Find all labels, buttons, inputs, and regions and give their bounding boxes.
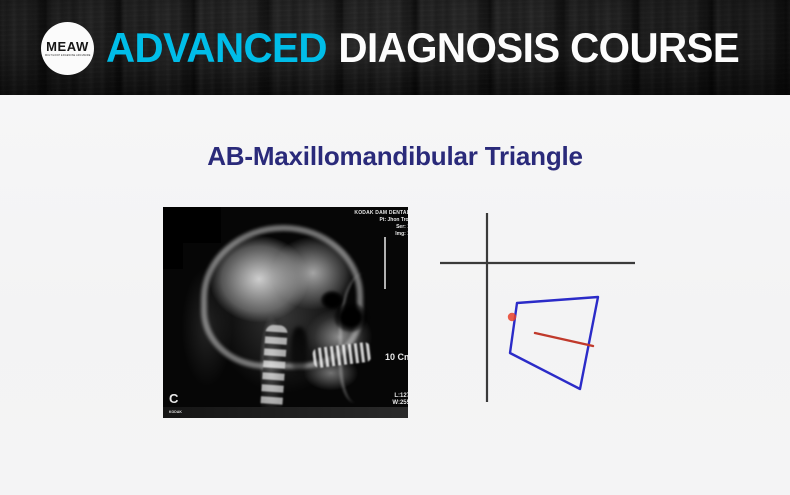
- slide-body: AB-Maxillomandibular Triangle KODAK DAM …: [0, 95, 790, 495]
- orbit-shadow: [334, 303, 368, 332]
- xray-window-level-label: L:127: [394, 393, 408, 399]
- banner-title-accent: ADVANCED: [106, 24, 327, 72]
- ab-reference-line: [535, 333, 593, 346]
- banner-title: ADVANCED DIAGNOSIS COURSE: [106, 19, 739, 77]
- logo-tagline: MULTILOOP EDGEWISE ARCHWIRE: [45, 55, 91, 58]
- xray-scale-label: 10 Cm: [385, 352, 408, 362]
- a-point-marker: [508, 313, 516, 321]
- xray-window-width-label: W:255: [392, 400, 408, 406]
- xray-vendor-marker: KODAK: [169, 410, 182, 414]
- page-title: AB-Maxillomandibular Triangle: [0, 141, 790, 172]
- xray-clinic-label: KODAK DAM DENTAL: [354, 210, 408, 216]
- facial-profile-outline: [339, 273, 394, 403]
- xray-edge-mask: [163, 207, 183, 269]
- cephalometric-xray-image: KODAK DAM DENTAL Pt: Jhon Troi Ser: 1 Im…: [163, 207, 408, 418]
- meaw-logo: MEAW MULTILOOP EDGEWISE ARCHWIRE: [41, 22, 94, 75]
- xray-orientation-marker: C: [169, 391, 178, 406]
- xray-bottom-bar: [163, 407, 408, 418]
- xray-image-label: Img: 1: [395, 231, 408, 237]
- xray-patient-label: Pt: Jhon Troi: [379, 217, 408, 223]
- header-banner: MEAW MULTILOOP EDGEWISE ARCHWIRE ADVANCE…: [0, 0, 790, 95]
- pharyngeal-airway-shadow: [291, 327, 307, 373]
- xray-series-label: Ser: 1: [396, 224, 408, 230]
- maxillomandibular-triangle-diagram: [430, 207, 660, 418]
- banner-title-plain: DIAGNOSIS COURSE: [338, 24, 739, 72]
- logo-wordmark: MEAW: [46, 40, 89, 53]
- xray-scale-ruler: [384, 237, 386, 289]
